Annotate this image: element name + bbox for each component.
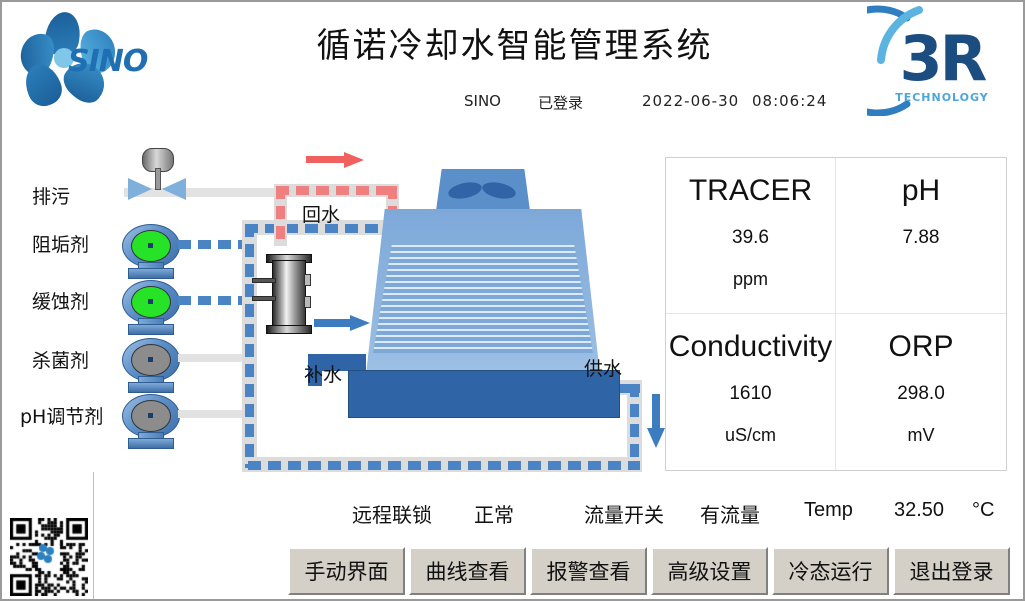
trend-view-button[interactable]: 曲线查看 <box>409 547 526 595</box>
cooling-tower-basin <box>348 370 620 418</box>
pump-biocide[interactable] <box>122 338 178 392</box>
alarm-view-button[interactable]: 报警查看 <box>530 547 647 595</box>
cooling-tower-fill-louvers <box>366 245 600 353</box>
label-makeup-water: 补水 <box>304 360 342 387</box>
pump-corrosion-inhibitor[interactable] <box>122 280 178 334</box>
advanced-settings-button[interactable]: 高级设置 <box>651 547 768 595</box>
flow-switch-label: 流量开关 <box>584 499 664 528</box>
measurement-cell-ph: pH 7.88 <box>836 158 1006 314</box>
system-time: 08:06:24 <box>752 92 827 110</box>
label-corrosion-inhibitor: 缓蚀剂 <box>32 287 89 314</box>
cooling-tower-fan-housing <box>436 169 530 211</box>
flow-line-supply-right <box>630 384 639 466</box>
dosing-line-antiscalant <box>178 240 248 249</box>
label-return-water: 回水 <box>302 200 340 227</box>
flow-line-bottom <box>248 461 640 470</box>
3r-technology-logo: 3R TECHNOLOGY <box>867 4 1017 116</box>
cooling-water-hmi-screen: SINO 循诺冷却水智能管理系统 SINO 已登录 2022-06-30 08:… <box>0 0 1025 601</box>
return-flow-arrow-icon <box>306 152 364 168</box>
flow-line-left <box>245 224 254 468</box>
3r-wordmark: 3R <box>867 22 1017 95</box>
3r-tagline: TECHNOLOGY <box>867 91 1017 104</box>
logout-button[interactable]: 退出登录 <box>893 547 1010 595</box>
measurement-cell-conductivity: Conductivity 1610 uS/cm <box>666 314 836 470</box>
qr-code <box>10 518 88 596</box>
manual-interface-button[interactable]: 手动界面 <box>288 547 405 595</box>
pump-ph-adjuster[interactable] <box>122 394 178 448</box>
remote-interlock-label: 远程联锁 <box>352 499 432 528</box>
temp-label: Temp <box>804 499 853 522</box>
tracer-unit: ppm <box>733 269 768 290</box>
action-button-bar: 手动界面 曲线查看 报警查看 高级设置 冷态运行 退出登录 <box>288 547 1010 595</box>
status-strip: 远程联锁 正常 流量开关 有流量 Temp 32.50 °C <box>352 499 1012 527</box>
orp-title: ORP <box>888 330 953 363</box>
label-ph-adjuster: pH调节剂 <box>20 402 103 429</box>
return-flow-left <box>276 186 285 244</box>
temp-unit: °C <box>972 499 994 522</box>
label-supply-water: 供水 <box>584 354 622 381</box>
label-blowdown: 排污 <box>32 182 70 209</box>
conductivity-value: 1610 <box>729 383 771 405</box>
heat-exchanger-icon <box>264 252 312 334</box>
supply-flow-arrow-icon <box>647 394 665 448</box>
dosing-line-corrosion-inhibitor <box>178 296 248 305</box>
measurement-cell-tracer: TRACER 39.6 ppm <box>666 158 836 314</box>
label-antiscalant: 阻垢剂 <box>32 230 89 257</box>
footer-divider <box>93 472 94 601</box>
user-name: SINO <box>464 92 501 110</box>
conductivity-title: Conductivity <box>669 330 832 363</box>
ph-title: pH <box>902 174 940 207</box>
measurement-panel: TRACER 39.6 ppm pH 7.88 Conductivity 161… <box>665 157 1007 471</box>
orp-value: 298.0 <box>897 383 945 405</box>
cold-start-run-button[interactable]: 冷态运行 <box>772 547 889 595</box>
measurement-cell-orp: ORP 298.0 mV <box>836 314 1006 470</box>
return-flow-top <box>276 186 396 195</box>
login-status: 已登录 <box>538 92 583 113</box>
remote-interlock-value: 正常 <box>474 499 514 528</box>
label-biocide: 杀菌剂 <box>32 346 89 373</box>
tracer-title: TRACER <box>689 174 812 207</box>
conductivity-unit: uS/cm <box>725 425 776 446</box>
blowdown-valve-icon <box>128 148 186 196</box>
flow-switch-value: 有流量 <box>700 499 760 528</box>
temp-value: 32.50 <box>894 499 944 522</box>
makeup-flow-arrow-icon <box>314 315 370 331</box>
tracer-value: 39.6 <box>732 227 769 249</box>
system-date: 2022-06-30 <box>642 92 739 110</box>
pump-antiscalant[interactable] <box>122 224 178 278</box>
orp-unit: mV <box>908 425 935 446</box>
ph-value: 7.88 <box>903 227 940 249</box>
